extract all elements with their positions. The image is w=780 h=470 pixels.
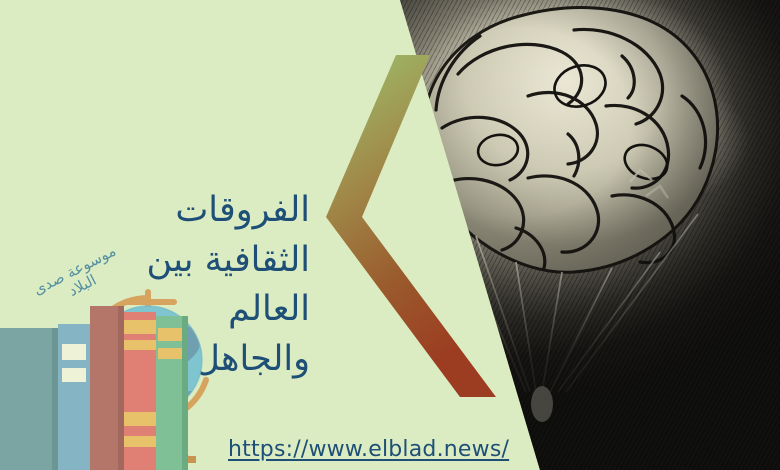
books-and-globe-illustration xyxy=(0,288,250,470)
site-url-link[interactable]: https://www.elblad.news/ xyxy=(228,437,509,462)
chevron-accent-icon xyxy=(300,55,500,405)
bookshelf-icon xyxy=(0,306,188,470)
poster-canvas: الفروقات الثقافية بين العالم والجاهل htt… xyxy=(0,0,780,470)
